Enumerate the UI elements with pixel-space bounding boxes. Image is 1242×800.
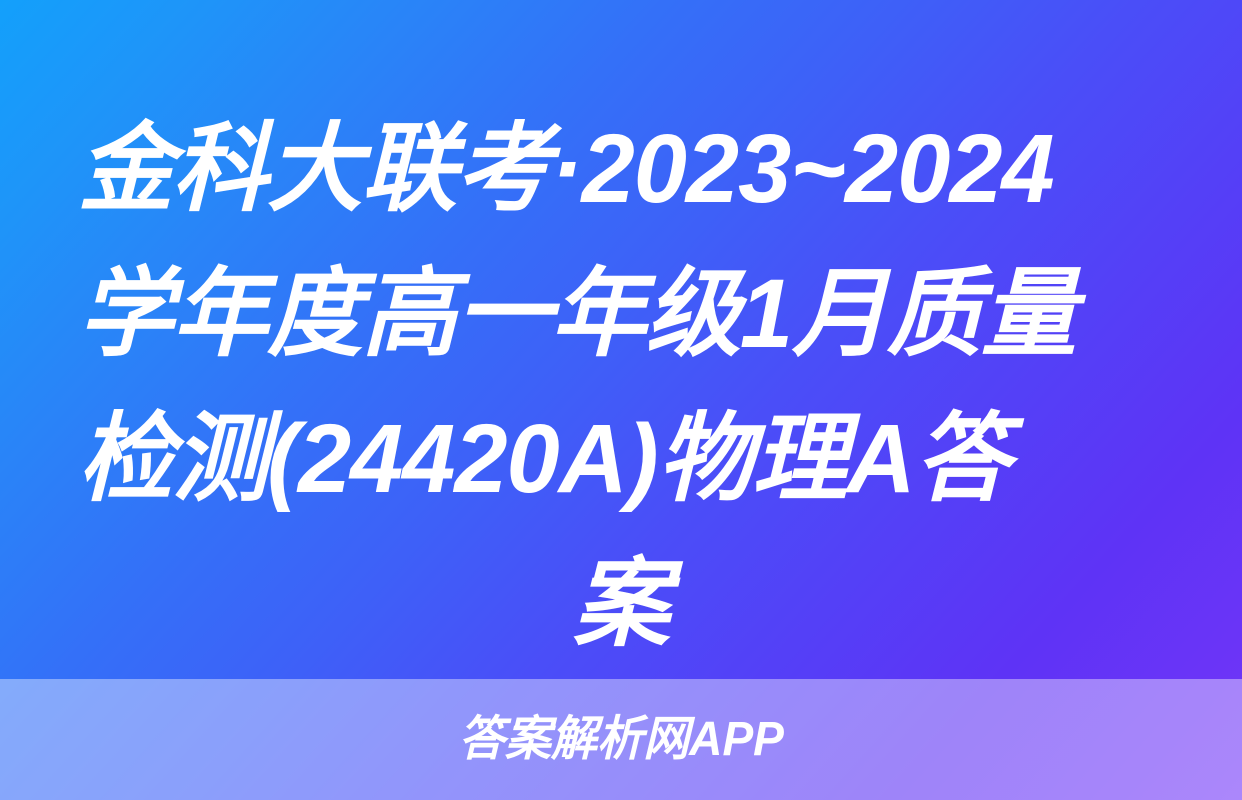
- title-line-1: 金科大联考·2023~2024: [78, 96, 1148, 241]
- title-line-4: 案: [78, 531, 1164, 676]
- title-line-2: 学年度高一年级1月质量: [78, 241, 1148, 386]
- poster-canvas: 金科大联考·2023~2024 学年度高一年级1月质量 检测(24420A)物理…: [0, 0, 1242, 800]
- poster-title: 金科大联考·2023~2024 学年度高一年级1月质量 检测(24420A)物理…: [78, 96, 1164, 676]
- watermark-band: 答案解析网APP: [0, 679, 1242, 800]
- title-line-3: 检测(24420A)物理A答: [78, 386, 1148, 531]
- watermark-label: 答案解析网APP: [458, 712, 783, 768]
